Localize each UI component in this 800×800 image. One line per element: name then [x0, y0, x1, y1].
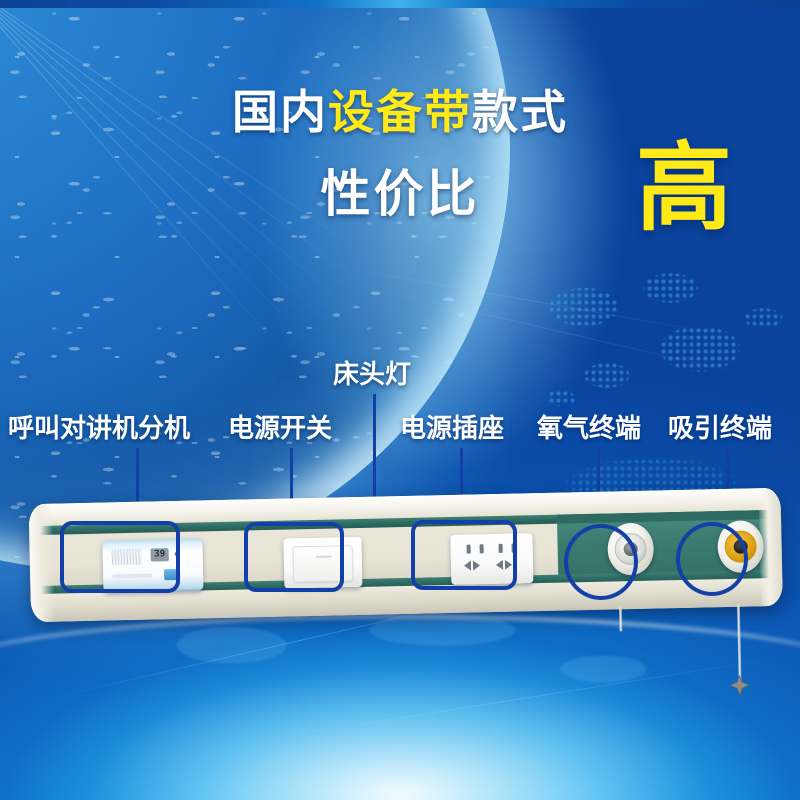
headline-part-white-a: 国内 — [232, 85, 328, 139]
poster-canvas: 国内设备带款式 性价比 高 呼叫对讲机分机 电源开关 床头灯 电源插座 氧气终端… — [0, 0, 800, 800]
callout-label-intercom: 呼叫对讲机分机 — [8, 414, 190, 444]
panel-left-edge — [29, 504, 56, 622]
pull-cord-hook-icon[interactable] — [728, 674, 750, 696]
headline-part-white-b: 款式 — [472, 85, 568, 139]
highlight-power-switch — [244, 522, 344, 592]
highlight-intercom — [60, 521, 180, 593]
highlight-oxygen — [564, 524, 638, 600]
highlight-suction — [676, 522, 748, 596]
highlight-power-socket — [411, 520, 517, 590]
oxygen-cord — [619, 607, 623, 631]
callout-label-oxygen: 氧气终端 — [537, 414, 641, 444]
top-band — [0, 0, 800, 8]
callout-label-power-switch: 电源开关 — [228, 414, 332, 444]
headline-part-yellow: 设备带 — [328, 85, 472, 139]
callout-label-suction: 吸引终端 — [668, 414, 772, 444]
callout-label-power-socket: 电源插座 — [400, 414, 504, 444]
headline-emphasis-char: 高 — [636, 140, 732, 236]
halftone-world-map — [520, 250, 800, 440]
callout-label-bedside-lamp: 床头灯 — [333, 360, 411, 390]
